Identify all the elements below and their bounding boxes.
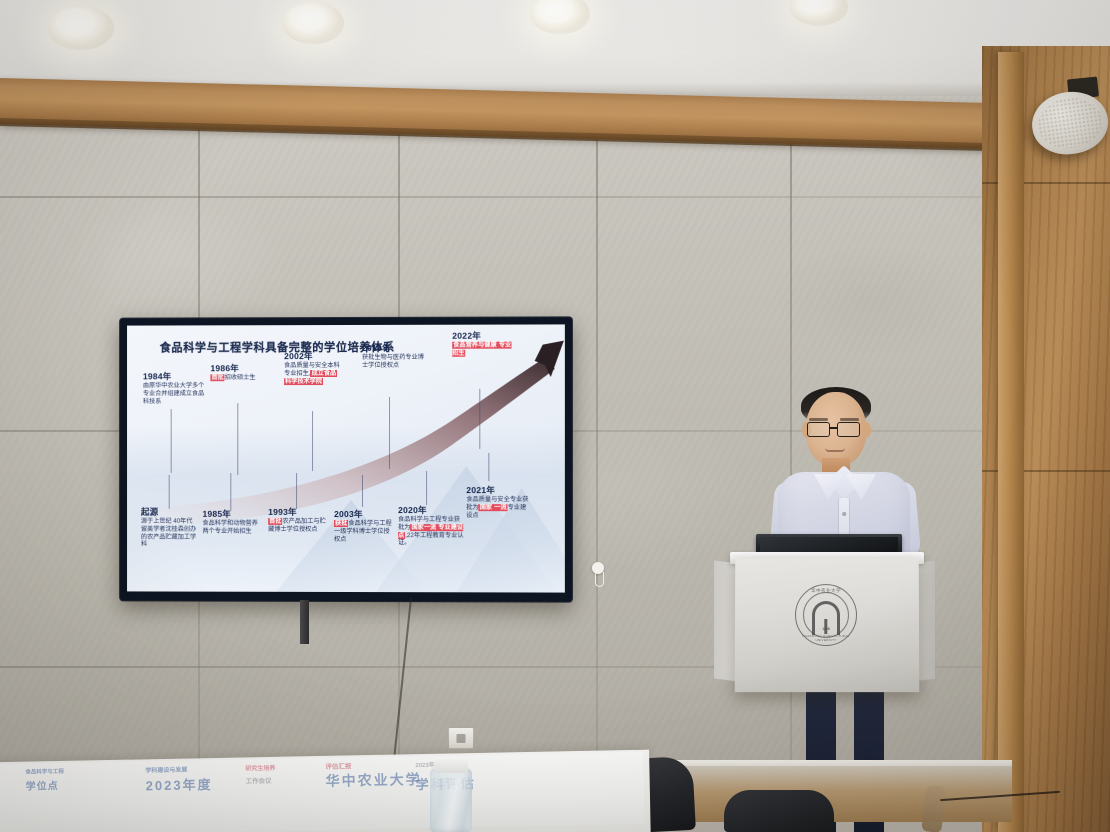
banner-fragment-7: 华中农业大学 xyxy=(325,769,421,791)
presenter-ear-right xyxy=(862,422,871,438)
timeline-text-run: 生 xyxy=(249,375,255,382)
timeline-entry-2002年: 2002年食品质量与安全本科专业招生,成立食品科学技术学院 xyxy=(284,351,342,385)
timeline-entry-起源: 起源源于上世纪 40年代留美学者沈桂森创办的农产品贮藏加工学科 xyxy=(141,507,199,549)
timeline-text-run: 一流 xyxy=(493,504,507,511)
timeline-entry-2019年: 2019年获批生物与医药专业博士学位授权点 xyxy=(362,343,426,370)
timeline-tick-1985 xyxy=(230,473,231,511)
table-banner: 食品科学与工程 学位点 学科建设与发展 2023年度 研究生培养 工作会议 评估… xyxy=(0,752,644,832)
timeline-description: 获批生物与医药专业博士学位授权点 xyxy=(362,354,426,369)
wood-door-post xyxy=(998,52,1024,832)
timeline-text-run: 首批 xyxy=(210,375,224,382)
presenter-mouth xyxy=(825,448,845,452)
timeline-description: 食品科学与工程专业获批为国家一流专业建设点,22年工程教育专业认证。 xyxy=(398,517,464,547)
timeline-tick-2021 xyxy=(488,453,489,481)
timeline-year-label: 2020年 xyxy=(398,505,464,516)
timeline-tick-2022 xyxy=(479,389,480,449)
banner-fragment-1: 学位点 xyxy=(25,777,58,793)
wall-seam-h1 xyxy=(0,196,990,198)
timeline-text-run: 成立食品 xyxy=(311,370,338,377)
timeline-year-label: 2022年 xyxy=(452,331,512,342)
timeline-entry-1993年: 1993年首批农产品加工与贮藏博士学位授权点 xyxy=(268,507,330,534)
timeline-text-run: 由原华中农业大 xyxy=(143,383,186,390)
timeline-year-label: 1984年 xyxy=(143,371,205,382)
timeline-year-label: 起源 xyxy=(141,507,199,518)
power-socket-icon xyxy=(448,727,474,749)
display-stand xyxy=(300,600,309,644)
timeline-entry-2021年: 2021年食品质量与安全专业获批为国家一流专业建设点 xyxy=(466,485,530,519)
timeline-year-label: 1986年 xyxy=(210,363,268,374)
ceiling-downlight-2 xyxy=(282,2,344,44)
timeline-entry-2020年: 2020年食品科学与工程专业获批为国家一流专业建设点,22年工程教育专业认证。 xyxy=(398,505,464,547)
timeline-text-run: 国家 xyxy=(479,504,493,511)
banner-fragment-4: 研究生培养 xyxy=(245,763,275,773)
timeline-text-run: 获批 xyxy=(334,520,348,527)
shirt-collar-left xyxy=(814,474,844,500)
timeline-year-label: 2003年 xyxy=(334,509,392,520)
timeline-year-label: 2002年 xyxy=(284,351,342,362)
timeline-description: 获批食品科学与工程一级学科博士学位授权点 xyxy=(334,520,392,543)
emblem-year: 1898 xyxy=(822,627,830,631)
mop-object xyxy=(921,785,946,832)
banner-fragment-8: 2023年 xyxy=(415,760,435,769)
timeline-text-run: 源于上世纪 40 xyxy=(141,518,180,525)
timeline-tick-1984 xyxy=(171,409,172,473)
podium: 华中农业大学 1898 HUAZHONG AGRICULTURAL UNIVER… xyxy=(735,558,919,692)
timeline-year-label: 1993年 xyxy=(268,507,330,518)
banner-fragment-0: 食品科学与工程 xyxy=(25,767,64,776)
timeline-description: 食品科学和动物营养两个专业开始招生 xyxy=(202,520,260,535)
foreground-table: 食品科学与工程 学位点 学科建设与发展 2023年度 研究生培养 工作会议 评估… xyxy=(0,750,651,832)
timeline-text-run: 食品营养与健康 xyxy=(452,342,498,349)
timeline-description: 由原华中农业大学多个专业合并组建成立食品科技系 xyxy=(143,383,205,406)
timeline-text-run: 食品质量与安 xyxy=(284,363,321,370)
glasses-bridge xyxy=(829,427,838,429)
banner-fragment-6: 评估汇报 xyxy=(325,760,351,770)
glasses-lens-left xyxy=(807,422,830,437)
timeline-tick-2003 xyxy=(362,475,363,507)
shirt-collar-right xyxy=(846,474,876,500)
timeline-tick-2019 xyxy=(389,397,390,469)
timeline-year-label: 1985年 xyxy=(202,509,260,520)
timeline-year-label: 2019年 xyxy=(362,343,426,354)
timeline-description: 食品营养与健康专业招生 xyxy=(452,342,512,357)
timeline-description: 首批招收硕士生 xyxy=(210,375,268,383)
timeline-entry-2022年: 2022年食品营养与健康专业招生 xyxy=(452,331,512,358)
timeline-description: 食品质量与安全本科专业招生,成立食品科学技术学院 xyxy=(284,362,342,385)
timeline-text-run: 食品科学和动 xyxy=(202,520,239,527)
wall-display[interactable]: 食品科学与工程学科具备完整的学位培养体系 xyxy=(120,317,572,601)
timeline-text-run: 技系 xyxy=(149,398,161,405)
presentation-slide: 食品科学与工程学科具备完整的学位培养体系 xyxy=(127,324,565,592)
banner-fragment-2: 学科建设与发展 xyxy=(145,765,187,775)
timeline-text-run: ,22年 xyxy=(405,532,420,539)
timeline-tick-2002 xyxy=(312,411,313,471)
emblem-bottom-text: HUAZHONG AGRICULTURAL UNIVERSITY xyxy=(796,634,856,642)
timeline-text-run: 业开始招生 xyxy=(221,528,252,535)
university-emblem-icon: 华中农业大学 1898 HUAZHONG AGRICULTURAL UNIVER… xyxy=(795,584,857,646)
display-screen: 食品科学与工程学科具备完整的学位培养体系 xyxy=(127,324,565,592)
timeline-text-run: 食品科 xyxy=(348,520,367,527)
timeline-text-run: 农产品贮藏加 xyxy=(147,533,184,540)
timeline-text-run: 农产品加工 xyxy=(282,518,313,525)
presenter-brow-right xyxy=(840,418,859,421)
timeline-text-run: 级学科博士 xyxy=(340,528,371,535)
growth-arrow-icon xyxy=(127,324,565,592)
presentation-room-photo: 食品科学与工程学科具备完整的学位培养体系 xyxy=(0,0,1110,832)
shirt-button-1 xyxy=(842,512,846,516)
wall-hook-icon xyxy=(592,562,604,574)
timeline-entry-1984年: 1984年由原华中农业大学多个专业合并组建成立食品科技系 xyxy=(143,371,205,405)
emblem-top-text: 华中农业大学 xyxy=(796,588,856,594)
timeline-text-run: 食品科学与工程专 xyxy=(398,517,448,524)
timeline-description: 首批农产品加工与贮藏博士学位授权点 xyxy=(268,518,330,533)
timeline-description: 源于上世纪 40年代留美学者沈桂森创办的农产品贮藏加工学科 xyxy=(141,518,199,548)
timeline-text-run: 首批 xyxy=(268,518,282,525)
timeline-text-run: 国家一流 xyxy=(410,524,437,531)
glasses-lens-right xyxy=(837,422,860,437)
timeline-text-run: 食品质量与安全 xyxy=(466,497,510,504)
timeline-tick-1986 xyxy=(237,403,238,475)
timeline-tick-origin xyxy=(169,475,170,509)
banner-fragment-3: 2023年度 xyxy=(145,774,212,794)
water-bottle-cap xyxy=(434,757,468,773)
office-chair-right[interactable] xyxy=(724,790,834,832)
timeline-entry-1986年: 1986年首批招收硕士生 xyxy=(210,363,268,382)
timeline-year-label: 2021年 xyxy=(466,485,530,496)
timeline-tick-1993 xyxy=(296,473,297,509)
timeline-tick-2020 xyxy=(426,471,427,505)
timeline-text-run: 授权点 xyxy=(299,526,318,533)
timeline-text-run: 获批生物与医药专 xyxy=(362,354,412,361)
ceiling-downlight-1 xyxy=(48,6,114,50)
presenter-brow-left xyxy=(809,418,828,421)
timeline-text-run: 科学技术学院 xyxy=(284,378,323,385)
timeline-text-run: 招收硕士 xyxy=(225,375,250,382)
timeline-entry-1985年: 1985年食品科学和动物营养两个专业开始招生 xyxy=(202,509,260,536)
timeline-description: 食品质量与安全专业获批为国家一流专业建设点 xyxy=(466,497,530,520)
banner-fragment-5: 工作会议 xyxy=(245,775,271,785)
timeline-entry-2003年: 2003年获批食品科学与工程一级学科博士学位授权点 xyxy=(334,509,392,543)
